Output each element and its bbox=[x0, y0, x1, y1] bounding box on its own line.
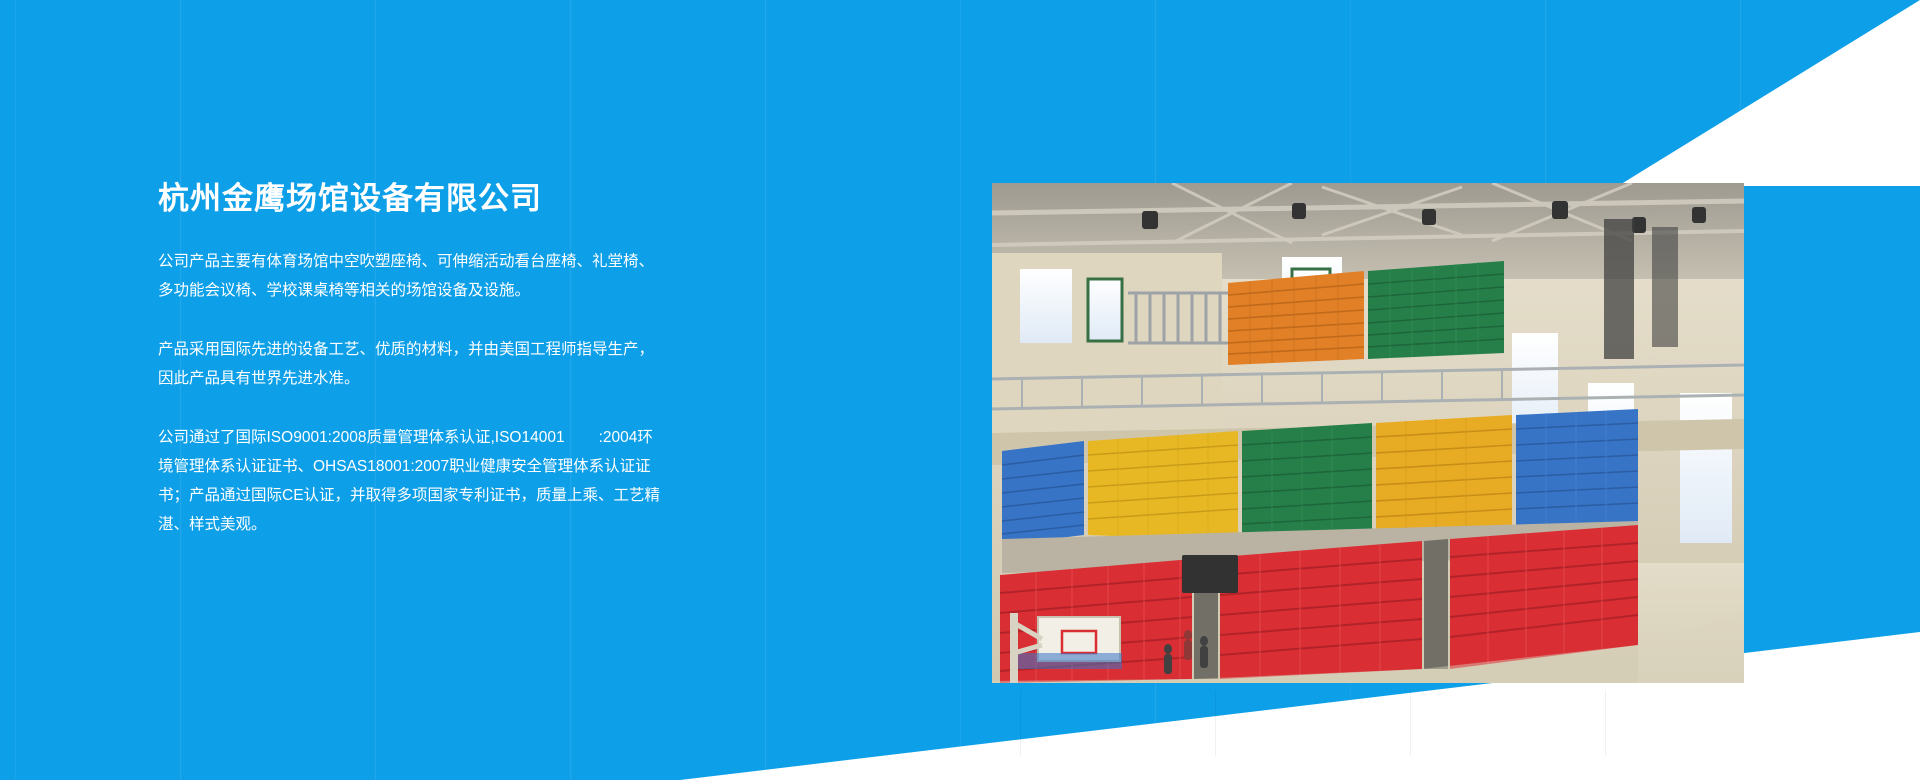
company-intro-text: 杭州金鹰场馆设备有限公司 公司产品主要有体育场馆中空吹塑座椅、可伸缩活动看台座椅… bbox=[158, 180, 668, 539]
intro-paragraph-products: 公司产品主要有体育场馆中空吹塑座椅、可伸缩活动看台座椅、礼堂椅、多功能会议椅、学… bbox=[158, 247, 668, 305]
intro-paragraph-technology: 产品采用国际先进的设备工艺、优质的材料，并由美国工程师指导生产，因此产品具有世界… bbox=[158, 335, 668, 393]
company-banner: 杭州金鹰场馆设备有限公司 公司产品主要有体育场馆中空吹塑座椅、可伸缩活动看台座椅… bbox=[0, 0, 1920, 780]
page-title: 杭州金鹰场馆设备有限公司 bbox=[158, 180, 668, 217]
gymnasium-photo-illustration bbox=[992, 183, 1744, 683]
hero-photo-frame bbox=[992, 183, 1744, 683]
intro-paragraph-certifications: 公司通过了国际ISO9001:2008质量管理体系认证,ISO14001:200… bbox=[158, 423, 668, 539]
certification-text-part-a: 公司通过了国际ISO9001:2008质量管理体系认证,ISO14001 bbox=[158, 429, 565, 446]
gymnasium-retractable-bleachers-photo bbox=[992, 183, 1744, 683]
